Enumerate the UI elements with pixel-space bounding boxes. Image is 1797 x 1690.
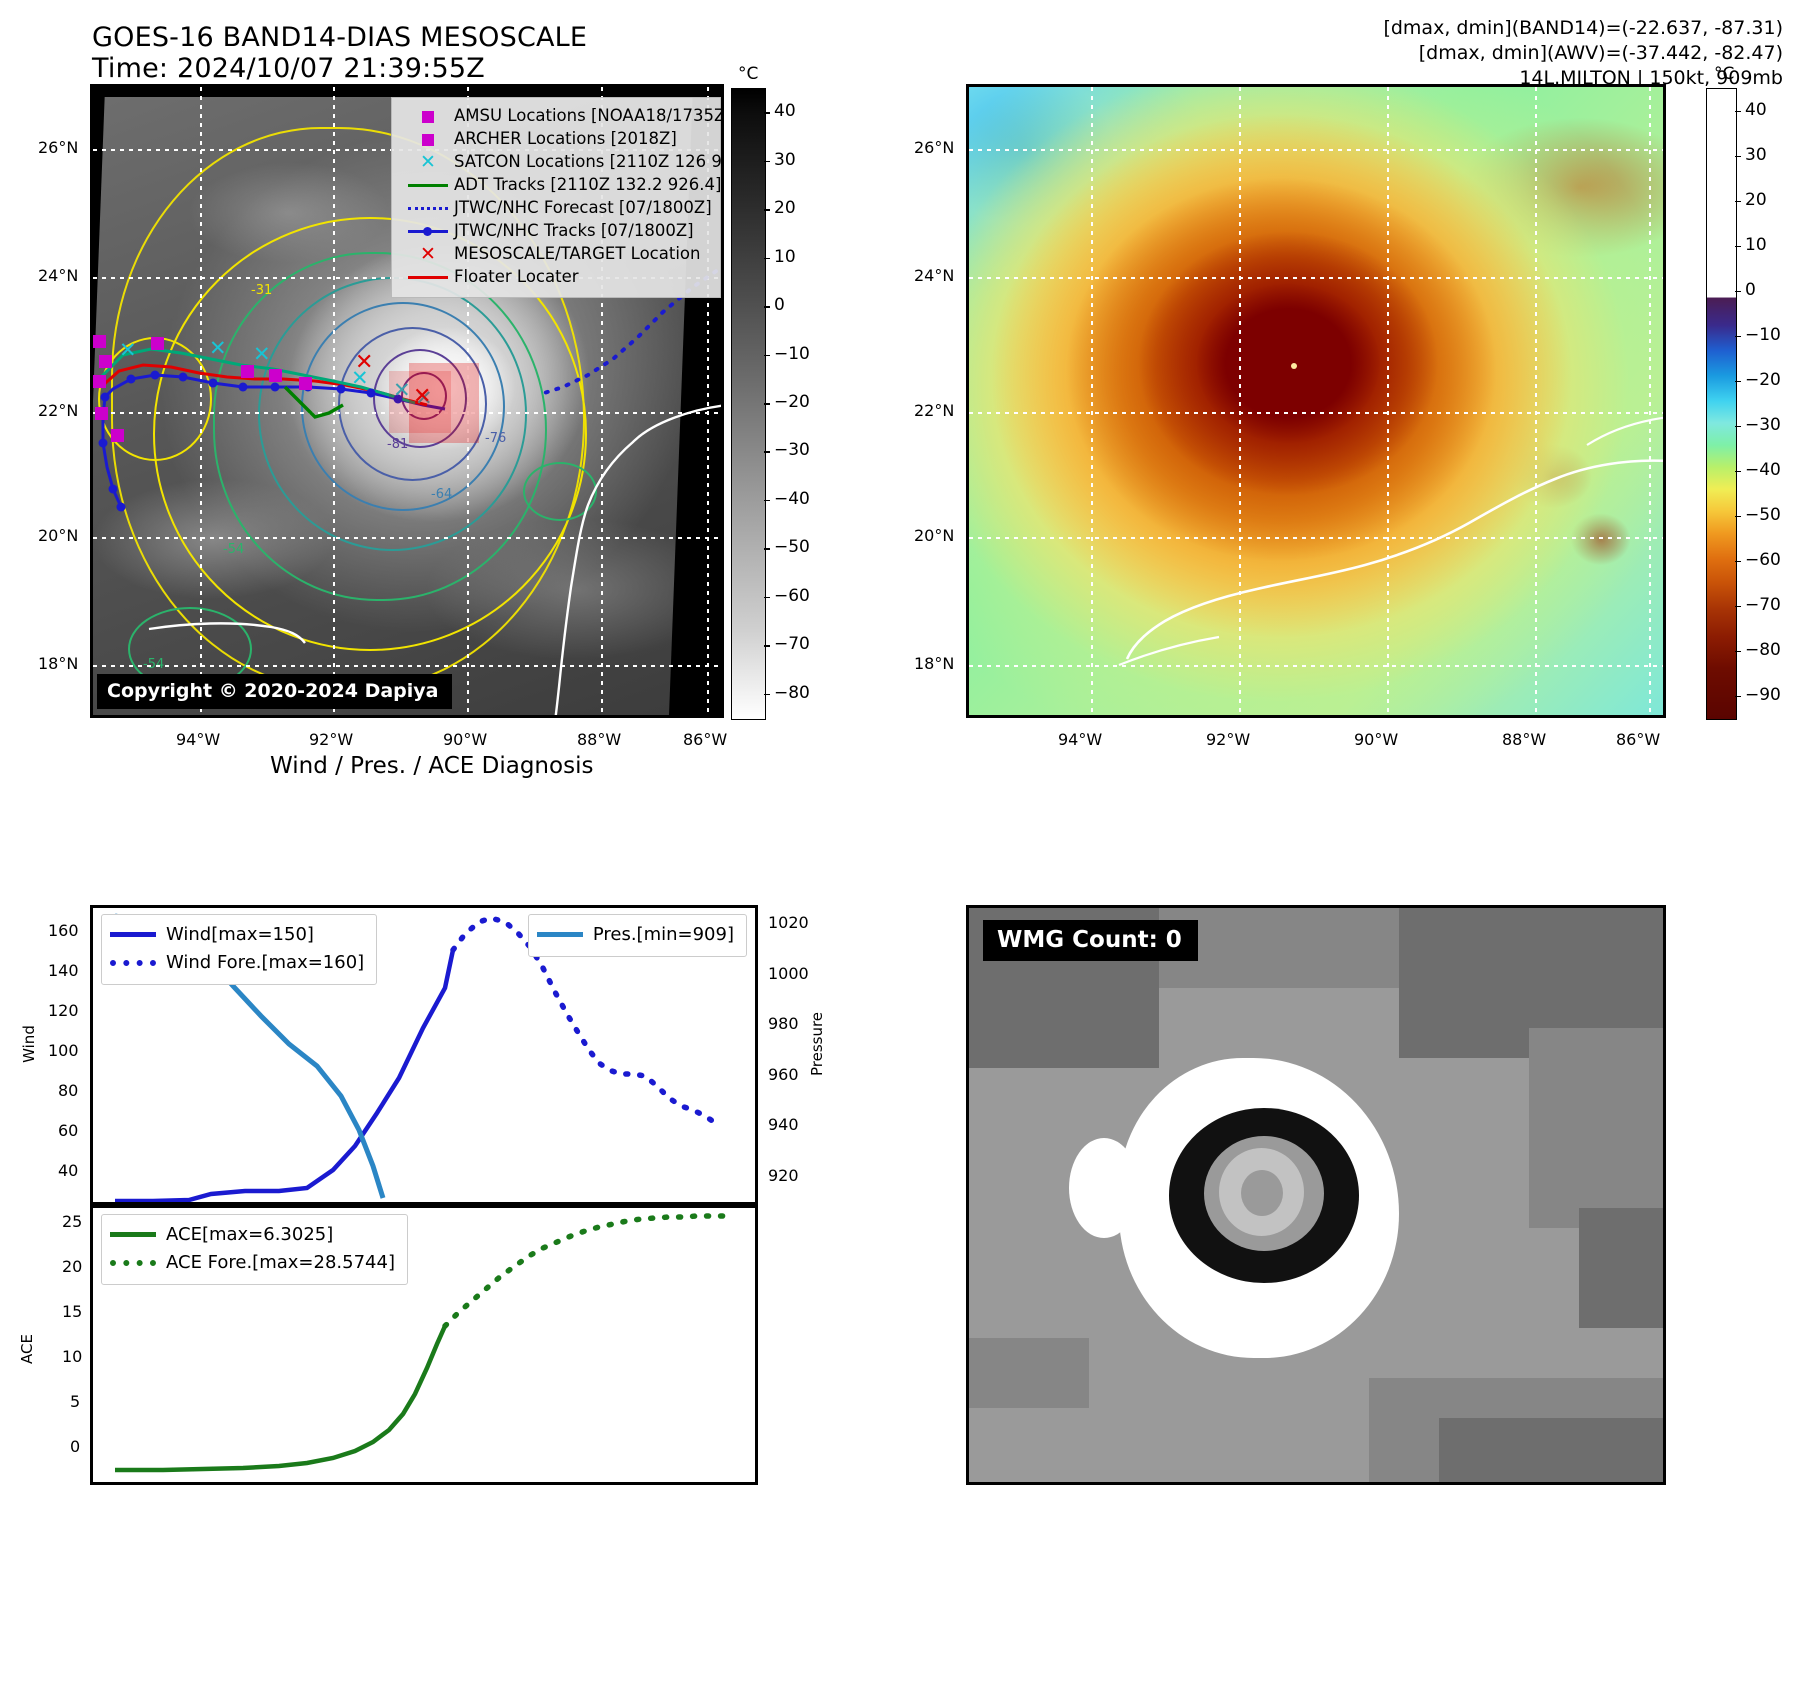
wind-ytick: 120 bbox=[48, 1001, 79, 1020]
copyright-notice: Copyright © 2020-2024 Dapiya bbox=[97, 674, 452, 709]
colorbar-tick: 0 bbox=[774, 295, 785, 315]
chart-title: Wind / Pres. / ACE Diagnosis bbox=[270, 753, 593, 779]
lon-tick: 88°W bbox=[577, 730, 621, 749]
wmg-panel[interactable]: WMG Count: 0 bbox=[966, 905, 1666, 1485]
colorbar-tick: −50 bbox=[1745, 505, 1781, 525]
colorbar-tick: −80 bbox=[774, 683, 810, 703]
colorbar-tick: −70 bbox=[1745, 595, 1781, 615]
legend-label: ADT Tracks [2110Z 132.2 926.4] bbox=[454, 173, 721, 198]
cross-icon: ✕ bbox=[402, 153, 454, 172]
legend-label: AMSU Locations [NOAA18/1735Z 144 910] bbox=[454, 104, 724, 129]
colorbar-tickmark bbox=[764, 161, 770, 163]
legend-label: JTWC/NHC Tracks [07/1800Z] bbox=[454, 219, 694, 244]
pressure-ytick: 920 bbox=[768, 1166, 799, 1185]
line-icon bbox=[110, 932, 166, 937]
svg-text:✕: ✕ bbox=[119, 338, 137, 362]
lon-tick: 92°W bbox=[309, 730, 353, 749]
colorbar-gradient bbox=[1706, 88, 1737, 720]
ace-legend: ACE[max=6.3025] ACE Fore.[max=28.5744] bbox=[101, 1214, 408, 1285]
svg-text:✕: ✕ bbox=[355, 350, 373, 375]
lat-tick: 20°N bbox=[914, 526, 954, 545]
colorbar-tick: −40 bbox=[1745, 460, 1781, 480]
colorbar-tick: 0 bbox=[1745, 280, 1756, 300]
square-icon bbox=[402, 111, 454, 123]
colorbar-tick: 10 bbox=[774, 247, 796, 267]
wind-ytick: 140 bbox=[48, 961, 79, 980]
colorbar-tickmark bbox=[764, 403, 770, 405]
lon-tick: 90°W bbox=[1354, 730, 1398, 749]
colorbar-tick: −70 bbox=[774, 634, 810, 654]
dotted-line-icon bbox=[110, 1260, 166, 1266]
wind-ytick: 40 bbox=[58, 1161, 78, 1180]
svg-text:✕: ✕ bbox=[209, 336, 227, 360]
colorbar-tickmark bbox=[1735, 696, 1741, 698]
lat-tick: 22°N bbox=[38, 401, 78, 420]
colorbar-tickmark bbox=[764, 112, 770, 114]
ace-ytick: 20 bbox=[62, 1257, 82, 1276]
colorbar-tickmark bbox=[764, 306, 770, 308]
ace-ytick: 5 bbox=[70, 1392, 80, 1411]
colorbar-tickmark bbox=[764, 694, 770, 696]
colorbar-tickmark bbox=[1735, 291, 1741, 293]
legend-item-wind: Wind[max=150] bbox=[110, 921, 364, 949]
line-icon bbox=[402, 276, 454, 279]
eye-center-marker bbox=[1291, 363, 1297, 369]
legend-item-mesoscale: ✕ MESOSCALE/TARGET Location bbox=[402, 243, 712, 266]
lat-tick: 18°N bbox=[38, 654, 78, 673]
ir-satellite-panel[interactable]: -31 -64 -81 -76 -54 -54 bbox=[90, 84, 724, 718]
grid-line-lon bbox=[1649, 87, 1651, 715]
lon-tick: 90°W bbox=[443, 730, 487, 749]
ace-ytick: 25 bbox=[62, 1212, 82, 1231]
colorbar-tickmark bbox=[764, 500, 770, 502]
square-icon bbox=[402, 134, 454, 146]
legend-item-amsu: AMSU Locations [NOAA18/1735Z 144 910] bbox=[402, 105, 712, 128]
svg-text:✕: ✕ bbox=[413, 384, 431, 409]
colorbar-tick: −30 bbox=[774, 440, 810, 460]
grid-line-lat bbox=[969, 277, 1663, 279]
colorbar-tickmark bbox=[1735, 336, 1741, 338]
legend-item-ace: ACE[max=6.3025] bbox=[110, 1221, 395, 1249]
lat-tick: 26°N bbox=[38, 138, 78, 157]
lon-tick: 94°W bbox=[1058, 730, 1102, 749]
wind-ytick: 80 bbox=[58, 1081, 78, 1100]
legend-item-archer: ARCHER Locations [2018Z] bbox=[402, 128, 712, 151]
wmg-region bbox=[969, 1338, 1089, 1408]
pressure-ytick: 1000 bbox=[768, 964, 809, 983]
legend-label: SATCON Locations [2110Z 126 946] bbox=[454, 150, 724, 175]
colorbar-tick: −60 bbox=[1745, 550, 1781, 570]
colorbar-tickmark bbox=[764, 645, 770, 647]
wind-ytick: 60 bbox=[58, 1121, 78, 1140]
stats-band14: [dmax, dmin](BAND14)=(-22.637, -87.31) bbox=[1383, 16, 1783, 41]
svg-text:✕: ✕ bbox=[253, 342, 271, 366]
colorbar-tick: −20 bbox=[1745, 370, 1781, 390]
line-icon bbox=[537, 932, 593, 937]
grid-line-lon bbox=[1387, 87, 1389, 715]
wmg-region bbox=[1579, 1208, 1666, 1328]
colorbar-tickmark bbox=[1735, 426, 1741, 428]
lat-tick: 24°N bbox=[38, 266, 78, 285]
grid-line-lon bbox=[1535, 87, 1537, 715]
legend-item-ace-forecast: ACE Fore.[max=28.5744] bbox=[110, 1249, 395, 1277]
legend-item-floater: Floater Locater bbox=[402, 266, 712, 289]
lon-tick: 86°W bbox=[1616, 730, 1660, 749]
stats-awv: [dmax, dmin](AWV)=(-37.442, -82.47) bbox=[1383, 41, 1783, 66]
ir-legend: AMSU Locations [NOAA18/1735Z 144 910] AR… bbox=[391, 97, 721, 298]
colorbar-tick: 40 bbox=[774, 101, 796, 121]
grid-line-lon bbox=[1091, 87, 1093, 715]
grid-line-lat bbox=[969, 537, 1663, 539]
colorbar-tickmark bbox=[764, 548, 770, 550]
colorbar-tick: −50 bbox=[774, 537, 810, 557]
grid-line-lat bbox=[969, 149, 1663, 151]
grid-line-lon bbox=[1239, 87, 1241, 715]
colorbar-unit: °C bbox=[1714, 64, 1734, 84]
lon-tick: 88°W bbox=[1502, 730, 1546, 749]
legend-label: Wind[max=150] bbox=[166, 921, 314, 949]
legend-item-satcon: ✕ SATCON Locations [2110Z 126 946] bbox=[402, 151, 712, 174]
awv-satellite-panel[interactable] bbox=[966, 84, 1666, 718]
line-icon bbox=[110, 1232, 166, 1237]
legend-item-forecast: JTWC/NHC Forecast [07/1800Z] bbox=[402, 197, 712, 220]
ace-ytick: 10 bbox=[62, 1347, 82, 1366]
lon-tick: 86°W bbox=[683, 730, 727, 749]
colorbar-tick: −20 bbox=[774, 392, 810, 412]
wmg-region bbox=[1529, 1028, 1666, 1228]
pressure-legend: Pres.[min=909] bbox=[528, 914, 747, 957]
colorbar-tickmark bbox=[764, 451, 770, 453]
wind-ytick: 100 bbox=[48, 1041, 79, 1060]
pressure-ytick: 980 bbox=[768, 1014, 799, 1033]
title-line-1: GOES-16 BAND14-DIAS MESOSCALE bbox=[92, 22, 587, 53]
pressure-ytick: 1020 bbox=[768, 913, 809, 932]
page-title: GOES-16 BAND14-DIAS MESOSCALE Time: 2024… bbox=[92, 22, 587, 84]
lat-tick: 20°N bbox=[38, 526, 78, 545]
legend-item-pressure: Pres.[min=909] bbox=[537, 921, 734, 949]
colorbar-gradient bbox=[731, 88, 766, 720]
lat-tick: 26°N bbox=[914, 138, 954, 157]
colorbar-tick: −80 bbox=[1745, 640, 1781, 660]
lon-tick: 94°W bbox=[176, 730, 220, 749]
dotted-line-icon bbox=[110, 960, 166, 966]
colorbar-tickmark bbox=[1735, 606, 1741, 608]
colorbar-tick: 10 bbox=[1745, 235, 1767, 255]
colorbar-tickmark bbox=[1735, 561, 1741, 563]
legend-label: Wind Fore.[max=160] bbox=[166, 949, 364, 977]
legend-label: JTWC/NHC Forecast [07/1800Z] bbox=[454, 196, 712, 221]
colorbar-unit: °C bbox=[738, 64, 758, 84]
wmg-eye-core bbox=[1241, 1170, 1283, 1216]
pressure-ytick: 960 bbox=[768, 1065, 799, 1084]
colorbar-tickmark bbox=[764, 209, 770, 211]
grid-line-lat bbox=[969, 412, 1663, 414]
wind-pressure-chart[interactable]: Wind[max=150] Wind Fore.[max=160] Pres.[… bbox=[90, 905, 758, 1205]
wind-axis-label: Wind bbox=[20, 1014, 38, 1074]
lat-tick: 24°N bbox=[914, 266, 954, 285]
colorbar-tickmark bbox=[1735, 156, 1741, 158]
colorbar-tick: −30 bbox=[1745, 415, 1781, 435]
legend-label: Pres.[min=909] bbox=[593, 921, 734, 949]
ace-axis-label: ACE bbox=[18, 1324, 36, 1374]
colorbar-tickmark bbox=[1735, 381, 1741, 383]
dotted-line-icon bbox=[402, 207, 454, 210]
ace-chart[interactable]: ACE[max=6.3025] ACE Fore.[max=28.5744] bbox=[90, 1205, 758, 1485]
colorbar-tickmark bbox=[1735, 651, 1741, 653]
wmg-cloud-white bbox=[1069, 1138, 1139, 1238]
lat-tick: 18°N bbox=[914, 654, 954, 673]
colorbar-tickmark bbox=[1735, 201, 1741, 203]
ace-ytick: 0 bbox=[70, 1437, 80, 1456]
colorbar-tickmark bbox=[764, 258, 770, 260]
awv-coastline bbox=[969, 87, 1666, 718]
line-marker-icon bbox=[402, 230, 454, 233]
lat-tick: 22°N bbox=[914, 401, 954, 420]
lon-tick: 92°W bbox=[1206, 730, 1250, 749]
colorbar-tickmark bbox=[1735, 471, 1741, 473]
colorbar-tick: 40 bbox=[1745, 100, 1767, 120]
colorbar-tickmark bbox=[764, 355, 770, 357]
colorbar-tick: 30 bbox=[1745, 145, 1767, 165]
colorbar-tick: 30 bbox=[774, 150, 796, 170]
legend-label: MESOSCALE/TARGET Location bbox=[454, 242, 700, 267]
legend-item-tracks: JTWC/NHC Tracks [07/1800Z] bbox=[402, 220, 712, 243]
wind-ytick: 160 bbox=[48, 921, 79, 940]
colorbar-tick: 20 bbox=[1745, 190, 1767, 210]
title-line-2: Time: 2024/10/07 21:39:55Z bbox=[92, 53, 587, 84]
colorbar-tick: −90 bbox=[1745, 685, 1781, 705]
pressure-axis-label: Pressure bbox=[808, 1009, 826, 1079]
wind-legend: Wind[max=150] Wind Fore.[max=160] bbox=[101, 914, 377, 985]
legend-label: ACE Fore.[max=28.5744] bbox=[166, 1249, 395, 1277]
colorbar-tickmark bbox=[1735, 246, 1741, 248]
legend-label: Floater Locater bbox=[454, 265, 579, 290]
colorbar-tick: 20 bbox=[774, 198, 796, 218]
colorbar-tick: −40 bbox=[774, 489, 810, 509]
line-icon bbox=[402, 184, 454, 187]
ace-ytick: 15 bbox=[62, 1302, 82, 1321]
colorbar-tickmark bbox=[1735, 516, 1741, 518]
legend-label: ARCHER Locations [2018Z] bbox=[454, 127, 677, 152]
legend-label: ACE[max=6.3025] bbox=[166, 1221, 333, 1249]
colorbar-tickmark bbox=[764, 597, 770, 599]
legend-item-adt: ADT Tracks [2110Z 132.2 926.4] bbox=[402, 174, 712, 197]
wmg-region bbox=[1439, 1418, 1666, 1485]
colorbar-tick: −10 bbox=[1745, 325, 1781, 345]
colorbar-tick: −10 bbox=[774, 344, 810, 364]
wmg-count-badge: WMG Count: 0 bbox=[983, 920, 1198, 961]
pressure-ytick: 940 bbox=[768, 1115, 799, 1134]
colorbar-tickmark bbox=[1735, 111, 1741, 113]
legend-item-wind-forecast: Wind Fore.[max=160] bbox=[110, 949, 364, 977]
colorbar-tick: −60 bbox=[774, 586, 810, 606]
grid-line-lat bbox=[969, 665, 1663, 667]
cross-icon: ✕ bbox=[402, 245, 454, 264]
